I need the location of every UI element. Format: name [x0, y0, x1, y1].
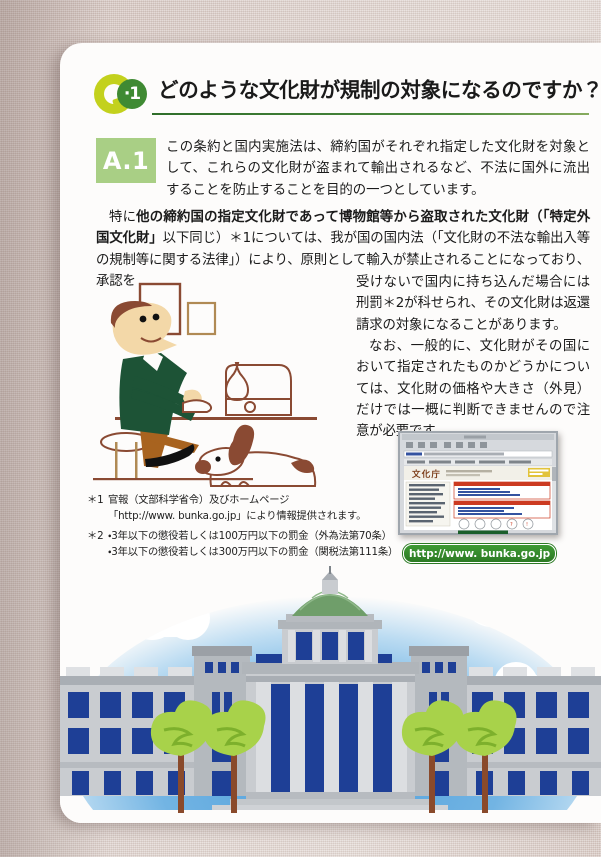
building-scene	[60, 566, 601, 823]
desk-illustration	[93, 281, 317, 505]
vase-icon	[226, 363, 248, 400]
footnote-2-mark: ＊2	[87, 529, 108, 560]
svg-text:!: !	[526, 522, 528, 528]
footnotes: ＊1 官報（文部科学省令）及びホームページ 「http://www. bunka…	[87, 493, 407, 565]
answer-paragraph: この条約と国内実施法は、締約国がそれぞれ指定した文化財を対象として、これらの文化…	[166, 137, 590, 201]
person-eye-left	[140, 316, 147, 323]
dog-nose	[195, 460, 211, 474]
footnote-1-line-2: 「http://www. bunka.go.jp」により情報提供されます。	[108, 509, 407, 525]
footnote-2-line-2: ・3年以下の懲役若しくは300万円以下の罰金（関税法第111条）	[108, 545, 407, 561]
mouse-icon	[183, 400, 211, 412]
website-url-button[interactable]: http://www. bunka.go.jp	[403, 544, 556, 563]
page-title: どのような文化財が規制の対象になるのですか？	[158, 73, 590, 103]
page-card: ·1 どのような文化財が規制の対象になるのですか？ A.1 この条約と国内実施法…	[60, 43, 601, 823]
person-eye-right	[153, 314, 160, 321]
question-number: ·1	[117, 79, 147, 109]
lantern	[322, 580, 338, 594]
footnote-1: ＊1 官報（文部科学省令）及びホームページ 「http://www. bunka…	[87, 493, 407, 524]
footnote-2: ＊2 ・3年以下の懲役若しくは100万円以下の罰金（外為法第70条） ・3年以下…	[87, 529, 407, 560]
body-paragraph-3: なお、一般的に、文化財がその国において指定されたものかどうかについては、文化財の…	[356, 336, 590, 442]
question-badge: ·1	[94, 74, 156, 114]
header-rule	[152, 113, 589, 115]
paragraph2-lead: 特に	[109, 210, 136, 225]
question-header: ·1 どのような文化財が規制の対象になるのですか？	[94, 74, 589, 118]
footnote-1-line-1: 官報（文部科学省令）及びホームページ	[108, 493, 407, 509]
picture-frame-small	[188, 303, 215, 334]
spire	[329, 566, 331, 574]
computer-icon	[226, 365, 291, 415]
footnote-1-mark: ＊1	[87, 493, 108, 524]
svg-text:?: ?	[510, 522, 513, 528]
dog-illustration	[195, 425, 315, 486]
answer-badge: A.1	[96, 138, 156, 183]
dog-eye	[215, 456, 220, 461]
floor-line	[93, 478, 253, 480]
site-title: 文化庁	[412, 469, 441, 480]
website-screenshot: 文化庁	[398, 431, 558, 535]
footnote-2-line-1: ・3年以下の懲役若しくは100万円以下の罰金（外為法第70条）	[108, 529, 407, 545]
body-paragraph-2-continued: 受けないで国内に持ち込んだ場合には刑罰＊2が科せられ、その文化財は返還請求の対象…	[356, 272, 590, 336]
